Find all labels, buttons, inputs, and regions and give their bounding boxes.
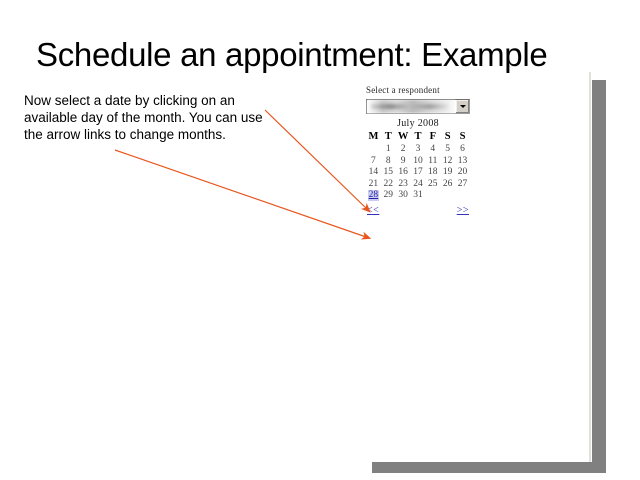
calendar-weekday-row: M T W T F S S [366, 131, 470, 144]
slide-frame-edge [589, 72, 591, 463]
weekday-header: F [425, 131, 440, 144]
calendar-day-cell: 15 [381, 167, 396, 179]
slide-shadow-bottom [372, 462, 606, 473]
prev-month-link[interactable]: << [367, 205, 379, 216]
calendar-day-cell-selected[interactable]: 28 [366, 190, 381, 202]
calendar-day-cell: 12 [440, 156, 455, 168]
weekday-header: W [396, 131, 411, 144]
calendar-day-cell: 20 [455, 167, 470, 179]
calendar-day-cell: 7 [366, 156, 381, 168]
calendar-week-row: 14 15 16 17 18 19 20 [366, 167, 470, 179]
calendar-day-cell: 16 [396, 167, 411, 179]
calendar-day-cell [366, 144, 381, 156]
calendar-day-cell: 10 [411, 156, 426, 168]
weekday-header: S [440, 131, 455, 144]
calendar-day-cell: 21 [366, 179, 381, 191]
respondent-select[interactable] [366, 99, 470, 114]
calendar-day-cell: 6 [455, 144, 470, 156]
calendar-day-cell: 3 [411, 144, 426, 156]
weekday-header: T [411, 131, 426, 144]
calendar-week-row: 21 22 23 24 25 26 27 [366, 179, 470, 191]
slide-canvas: Schedule an appointment: Example Now sel… [0, 0, 640, 480]
calendar-day-cell [440, 190, 455, 202]
calendar-day-cell: 4 [425, 144, 440, 156]
calendar-day-cell: 31 [411, 190, 426, 202]
calendar-day-cell: 14 [366, 167, 381, 179]
calendar-week-row: 7 8 9 10 11 12 13 [366, 156, 470, 168]
calendar-day-cell: 26 [440, 179, 455, 191]
calendar-day-cell: 13 [455, 156, 470, 168]
calendar-day-cell: 29 [381, 190, 396, 202]
weekday-header: S [455, 131, 470, 144]
calendar-day-cell: 27 [455, 179, 470, 191]
calendar-day-cell [425, 190, 440, 202]
annotation-arrow-to-day [265, 110, 369, 211]
respondent-label: Select a respondent [366, 84, 478, 96]
calendar-day-cell: 9 [396, 156, 411, 168]
calendar-day-cell: 5 [440, 144, 455, 156]
calendar-week-row: 1 2 3 4 5 6 [366, 144, 470, 156]
calendar-day-cell: 18 [425, 167, 440, 179]
calendar-day-cell: 2 [396, 144, 411, 156]
calendar-month-title: July 2008 [366, 118, 470, 129]
calendar-widget: Select a respondent July 2008 M T W T F … [366, 84, 478, 217]
calendar-day-cell: 17 [411, 167, 426, 179]
calendar-week-row: 28 29 30 31 [366, 190, 470, 202]
weekday-header: M [366, 131, 381, 144]
calendar-day-cell: 11 [425, 156, 440, 168]
next-month-link[interactable]: >> [457, 205, 469, 216]
calendar-day-cell: 8 [381, 156, 396, 168]
respondent-select-value [367, 100, 455, 113]
calendar-day-cell: 25 [425, 179, 440, 191]
selected-day-link[interactable]: 28 [368, 190, 380, 201]
calendar-day-cell: 30 [396, 190, 411, 202]
calendar-nav-row: << >> [366, 205, 470, 217]
page-title: Schedule an appointment: Example [36, 36, 616, 74]
calendar-day-cell: 24 [411, 179, 426, 191]
calendar-day-cell [455, 190, 470, 202]
weekday-header: T [381, 131, 396, 144]
calendar-day-cell: 22 [381, 179, 396, 191]
calendar-day-cell: 23 [396, 179, 411, 191]
chevron-down-icon[interactable] [455, 100, 469, 113]
calendar-day-cell: 19 [440, 167, 455, 179]
instruction-text: Now select a date by clicking on an avai… [24, 92, 272, 143]
calendar-table: M T W T F S S 1 2 3 4 5 6 [366, 131, 470, 202]
calendar-day-cell: 1 [381, 144, 396, 156]
slide-shadow-right [592, 80, 606, 463]
annotation-arrow-to-nav [115, 150, 369, 238]
